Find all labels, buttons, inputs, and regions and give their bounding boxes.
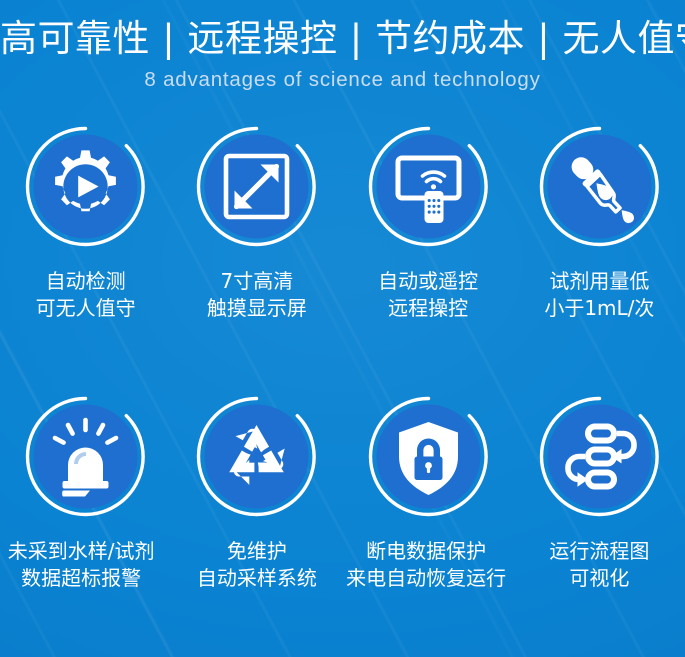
feature-item-touch-display: 7寸高清 触摸显示屏: [171, 124, 342, 394]
badge-recycle: [194, 394, 319, 519]
caption-line-1: 试剂用量低: [544, 268, 654, 294]
feature-item-power-protection: 断电数据保护 来电自动恢复运行: [343, 394, 514, 657]
feature-caption: 未采到水样/试剂 数据超标报警: [8, 538, 155, 591]
feature-item-remote-control: 自动或遥控 远程操控: [343, 124, 514, 394]
flowchart-icon: [537, 394, 662, 519]
expand-arrows-icon: [194, 124, 319, 249]
poster-root: 高可靠性 | 远程操控 | 节约成本 | 无人值守 8 advantages o…: [0, 0, 685, 657]
feature-item-maintenance-free: 免维护 自动采样系统: [171, 394, 342, 657]
feature-grid: 自动检测 可无人值守: [0, 124, 685, 657]
caption-line-1: 断电数据保护: [346, 538, 506, 564]
caption-line-2: 可视化: [549, 565, 649, 591]
feature-caption: 自动检测 可无人值守: [36, 268, 136, 321]
feature-caption: 试剂用量低 小于1mL/次: [544, 268, 654, 321]
caption-line-1: 免维护: [197, 538, 317, 564]
feature-caption: 断电数据保护 来电自动恢复运行: [346, 538, 506, 591]
caption-line-1: 自动或遥控: [378, 268, 478, 294]
gear-play-icon: [23, 124, 148, 249]
feature-item-alarm: 未采到水样/试剂 数据超标报警: [0, 394, 171, 657]
badge-tv-remote: [366, 124, 491, 249]
feature-caption: 7寸高清 触摸显示屏: [207, 268, 307, 321]
badge-expand-arrows: [194, 124, 319, 249]
recycle-icon: [194, 394, 319, 519]
page-subtitle: 8 advantages of science and technology: [0, 68, 685, 92]
caption-line-2: 远程操控: [378, 295, 478, 321]
feature-caption: 免维护 自动采样系统: [197, 538, 317, 591]
header: 高可靠性 | 远程操控 | 节约成本 | 无人值守 8 advantages o…: [0, 0, 685, 92]
caption-line-1: 运行流程图: [549, 538, 649, 564]
badge-gear-play: [23, 124, 148, 249]
caption-line-2: 来电自动恢复运行: [346, 565, 506, 591]
caption-line-2: 可无人值守: [36, 295, 136, 321]
badge-alarm-siren: [23, 394, 148, 519]
badge-dropper: [537, 124, 662, 249]
shield-lock-icon: [366, 394, 491, 519]
feature-caption: 运行流程图 可视化: [549, 538, 649, 591]
badge-shield-lock: [366, 394, 491, 519]
caption-line-2: 自动采样系统: [197, 565, 317, 591]
caption-line-1: 7寸高清: [207, 268, 307, 294]
caption-line-2: 小于1mL/次: [544, 295, 654, 321]
dropper-pipette-icon: [537, 124, 662, 249]
feature-item-low-reagent: 试剂用量低 小于1mL/次: [514, 124, 685, 394]
page-title: 高可靠性 | 远程操控 | 节约成本 | 无人值守: [0, 16, 685, 61]
tv-remote-wifi-icon: [366, 124, 491, 249]
caption-line-1: 未采到水样/试剂: [8, 538, 155, 564]
caption-line-1: 自动检测: [36, 268, 136, 294]
caption-line-2: 触摸显示屏: [207, 295, 307, 321]
feature-caption: 自动或遥控 远程操控: [378, 268, 478, 321]
feature-item-auto-detection: 自动检测 可无人值守: [0, 124, 171, 394]
badge-flowchart: [537, 394, 662, 519]
feature-item-flowchart: 运行流程图 可视化: [514, 394, 685, 657]
caption-line-2: 数据超标报警: [8, 565, 155, 591]
alarm-siren-icon: [23, 394, 148, 519]
